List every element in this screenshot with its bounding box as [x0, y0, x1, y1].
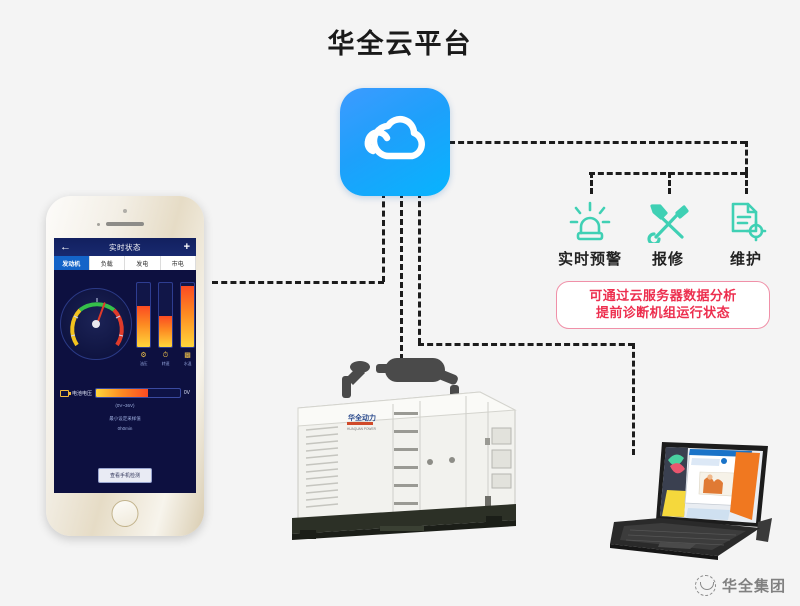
- wrench-hammer-icon: [629, 195, 707, 243]
- battery-voltage-bar: [95, 388, 181, 398]
- bar-gauge-speed: ⏱ 转速: [158, 282, 173, 367]
- bar-gauge-coolant: ▩ 水温: [180, 282, 195, 367]
- smartphone-device: ← 实时状态 + 发动机 负载 发电 市电: [46, 196, 204, 536]
- home-button[interactable]: [112, 500, 139, 527]
- service-label-alarm: 实时预警: [551, 248, 629, 269]
- battery-voltage-label: 电池电压: [72, 390, 92, 397]
- connector-branch-alarm: [590, 172, 593, 194]
- connector-branch-repair: [668, 172, 671, 194]
- watermark: 华全集团: [695, 575, 786, 596]
- back-arrow-icon[interactable]: ←: [60, 242, 71, 253]
- bar-label-oil: 油压: [136, 361, 151, 367]
- page-title: 华全云平台: [0, 22, 800, 61]
- bar-fill: [181, 286, 194, 347]
- service-label-maintain: 维护: [707, 248, 785, 269]
- battery-sub-note-2: 0h0min: [60, 426, 190, 433]
- front-camera-icon: [123, 209, 127, 213]
- callout-line-1: 可通过云服务器数据分析: [561, 288, 765, 305]
- bar-gauge-oil: ⚙ 油压: [136, 282, 151, 367]
- battery-icon: [60, 390, 69, 397]
- app-header: ← 实时状态 +: [54, 238, 196, 256]
- tab-engine[interactable]: 发动机: [54, 256, 90, 270]
- huaquan-logo-icon: [695, 575, 716, 596]
- connector-branch-maintain: [745, 172, 748, 194]
- tablet-screen-assembly: [656, 442, 768, 527]
- callout-box: 可通过云服务器数据分析 提前诊断机组运行状态: [556, 281, 770, 329]
- generator-brand-text: 华全动力: [348, 413, 376, 422]
- battery-sub-note-1: 最小设定采样值: [60, 416, 190, 423]
- service-item-repair[interactable]: 报修: [629, 195, 707, 269]
- generator-canopy: 华全动力 HUAQUAN POWER: [298, 392, 515, 522]
- speed-gauge: [60, 288, 132, 360]
- battery-range-note: (0V~36V): [60, 403, 190, 408]
- tab-load[interactable]: 负载: [90, 256, 126, 270]
- svg-text:HUAQUAN POWER: HUAQUAN POWER: [347, 427, 377, 431]
- coolant-icon: ▩: [180, 352, 195, 359]
- document-gear-icon: [707, 195, 785, 243]
- tab-mains[interactable]: 市电: [161, 256, 197, 270]
- cloud-platform-icon[interactable]: [340, 88, 450, 196]
- connector-to-phone: [212, 281, 384, 284]
- battery-voltage-row: 电池电压 0V: [60, 388, 190, 398]
- bar-label-coolant: 水温: [180, 361, 195, 367]
- app-content: ⚙ 油压 ⏱ 转速 ▩ 水温: [54, 270, 196, 493]
- service-label-repair: 报修: [629, 248, 707, 269]
- alarm-light-icon: [551, 195, 629, 243]
- bar-label-speed: 转速: [158, 361, 173, 367]
- phone-screen: ← 实时状态 + 发动机 负载 发电 市电: [54, 238, 196, 493]
- bar-gauges: ⚙ 油压 ⏱ 转速 ▩ 水温: [136, 282, 195, 367]
- cloud-icon: [354, 106, 436, 176]
- connector-services-bracket-right: [745, 141, 748, 173]
- bar-tube: [136, 282, 151, 348]
- diesel-generator-set: 华全动力 HUAQUAN POWER: [280, 350, 530, 550]
- add-icon[interactable]: +: [184, 242, 190, 253]
- connector-to-tablet: [418, 343, 634, 346]
- bar-tube: [180, 282, 195, 348]
- phone-bottom-bezel: [46, 493, 204, 536]
- connector-cloud-to-services: [449, 141, 746, 144]
- tablet-laptop-device: [600, 430, 790, 565]
- phone-earpiece-area: [46, 196, 204, 238]
- service-item-alarm[interactable]: 实时预警: [551, 195, 629, 269]
- bar-fill: [137, 306, 150, 347]
- bar-fill: [159, 316, 172, 347]
- earpiece-speaker: [106, 222, 144, 226]
- callout-line-2: 提前诊断机组运行状态: [561, 305, 765, 322]
- app-header-title: 实时状态: [54, 242, 196, 253]
- battery-voltage-value: 0V: [184, 390, 190, 396]
- watermark-text: 华全集团: [722, 575, 786, 596]
- app-tab-bar: 发动机 负载 发电 市电: [54, 256, 196, 270]
- connector-cloud-down-tablet: [418, 192, 421, 344]
- battery-voltage-fill: [96, 389, 148, 397]
- connector-cloud-down-generator: [400, 192, 403, 360]
- gauge-hub: [92, 320, 100, 328]
- connector-cloud-down-left: [382, 192, 385, 282]
- infographic-stage: 华全云平台: [0, 0, 800, 606]
- service-item-maintain[interactable]: 维护: [707, 195, 785, 269]
- proximity-sensor-icon: [97, 223, 100, 226]
- view-detection-button[interactable]: 查看手机检测: [98, 468, 152, 483]
- tab-generation[interactable]: 发电: [125, 256, 161, 270]
- bar-tube: [158, 282, 173, 348]
- oil-pressure-icon: ⚙: [136, 352, 151, 359]
- speed-icon: ⏱: [158, 352, 173, 359]
